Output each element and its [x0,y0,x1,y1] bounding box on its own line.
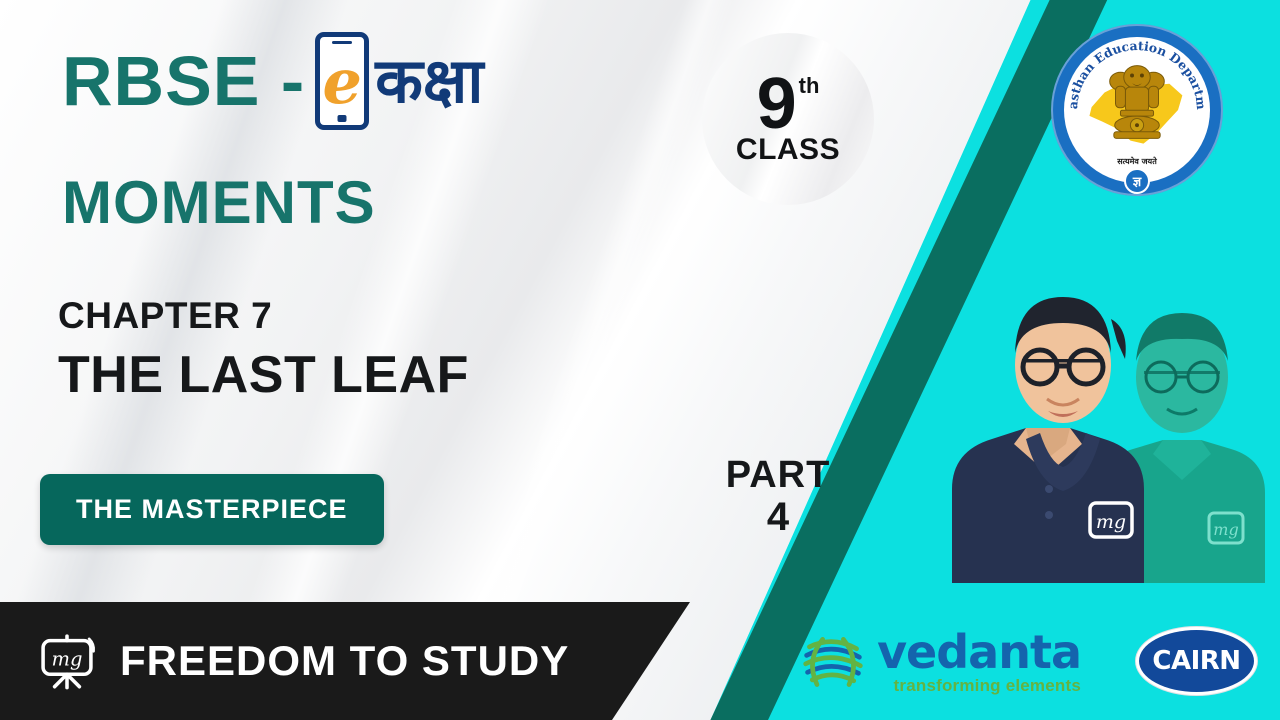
subject-title: MOMENTS [62,168,376,237]
chapter-label: CHAPTER 7 [58,295,272,337]
teacher-female-front: mg [948,253,1178,583]
part-indicator: PART 4 [703,455,853,539]
part-label: PART [703,455,853,496]
footer-tagline: FREEDOM TO STUDY [120,637,569,685]
class-badge: 9 th CLASS [702,33,874,205]
class-number-row: 9 th [757,71,820,137]
teacher-photos: mg mg [930,238,1280,583]
mg-logo-text: mg [52,647,83,670]
ekaksha-e-letter: e [323,51,362,113]
topic-pill: THE MASTERPIECE [40,474,384,545]
vedanta-wordmark-block: vedanta transforming elements [877,629,1081,694]
brand-header: RBSE - e कक्षा [62,32,483,130]
seal-ring-label: Rajasthan Education Department [1064,37,1210,183]
rajasthan-education-department-seal: सत्यमेव जयते Rajasthan Education Departm… [1051,24,1223,196]
part-number: 4 [703,496,853,539]
vedanta-tagline: transforming elements [894,677,1081,694]
class-number: 9 [757,71,797,137]
cairn-wordmark: CAIRN [1152,646,1240,676]
seal-bottom-badge: ज्ञ [1124,168,1150,194]
svg-text:Rajasthan Education Department: Rajasthan Education Department [1064,37,1209,110]
svg-text:mg: mg [1096,511,1126,533]
class-word: CLASS [736,133,840,167]
board-name: RBSE - [62,46,305,116]
class-ordinal: th [799,75,820,97]
chapter-title: THE LAST LEAF [58,345,469,405]
smartphone-icon: e [315,32,369,130]
ekaksha-logo: e कक्षा [315,32,483,130]
seal-inner-disc: सत्यमेव जयते Rajasthan Education Departm… [1064,37,1210,183]
svg-text:mg: mg [1213,520,1238,539]
mg-blackboard-logo-icon: mg [36,630,98,692]
vedanta-globe-icon [800,628,866,694]
cairn-logo: CAIRN [1139,630,1254,692]
thumbnail-canvas: RBSE - e कक्षा MOMENTS CHAPTER 7 THE LAS… [0,0,1280,720]
vedanta-logo: vedanta transforming elements [800,628,1081,694]
ekaksha-hindi-word: कक्षा [375,50,483,112]
seal-ring-text: Rajasthan Education Department [1064,37,1209,110]
vedanta-wordmark: vedanta [877,629,1081,675]
sponsor-row: vedanta transforming elements CAIRN [760,602,1280,720]
